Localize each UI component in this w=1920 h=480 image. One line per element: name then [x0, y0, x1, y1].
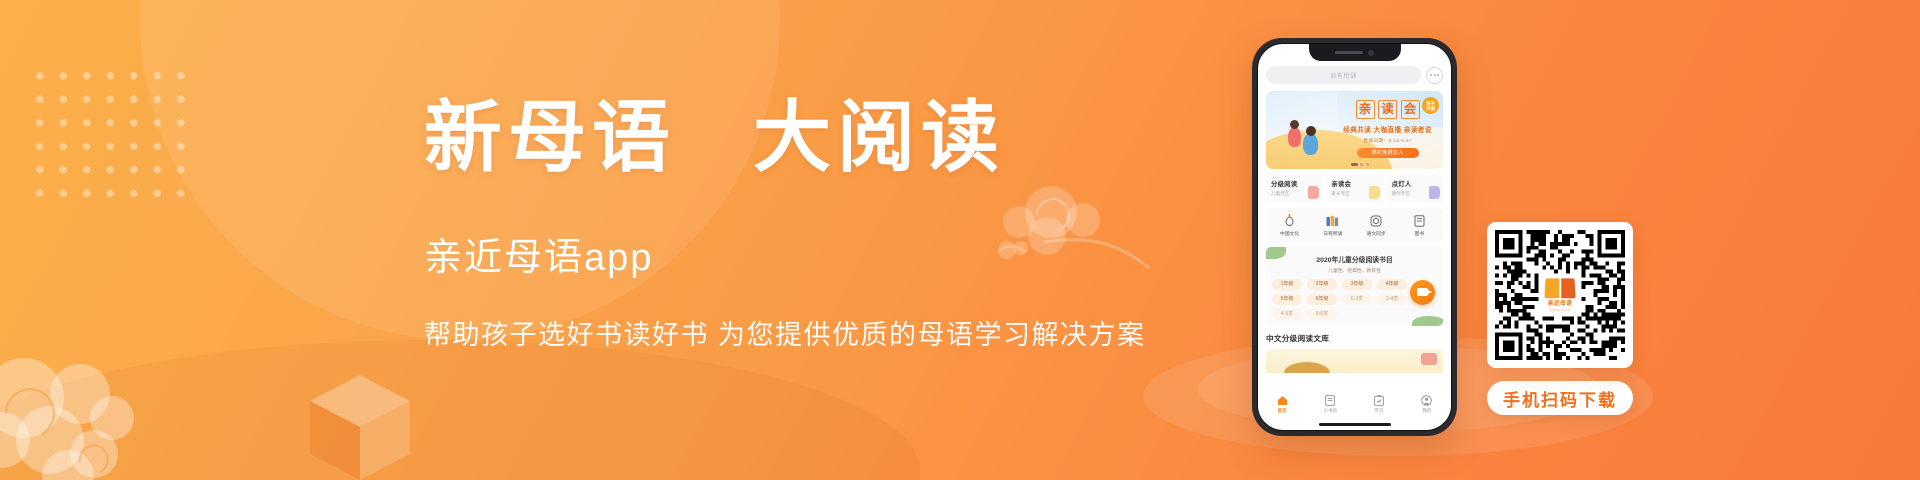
age-pill[interactable]: 0-3岁 [1342, 294, 1372, 305]
grade-pill[interactable]: 6年级 [1307, 294, 1337, 305]
section-title: 中文分级阅读文库 [1266, 333, 1443, 344]
hero-title-char: 会 [1401, 100, 1420, 119]
app-name: 亲近母语app [424, 226, 1264, 281]
book-icon [1429, 186, 1440, 199]
decorative-dot-grid [26, 62, 198, 210]
grade-pill[interactable]: 2年级 [1307, 279, 1337, 290]
grade-pill[interactable]: 3年级 [1342, 279, 1372, 290]
headline-part-1: 新母语 [424, 94, 676, 181]
hero-subtitle: 经典共读 大咖直播 亲读者说 [1338, 124, 1437, 134]
tagline: 帮助孩子选好书读好书 为您提供优质的母语学习解决方案 [424, 313, 1264, 352]
decorative-cube [310, 375, 410, 480]
quick-link-books[interactable]: 图书 [1399, 214, 1441, 237]
library-shelf-card[interactable] [1266, 349, 1443, 373]
age-pill[interactable]: 5-6岁 [1307, 309, 1337, 320]
more-options-icon[interactable] [1426, 67, 1443, 84]
hero-date: 直播日期：9.16-9.27 [1338, 137, 1437, 144]
quick-link-textbook-sync[interactable]: 语文同步 [1355, 214, 1397, 237]
tab-home[interactable]: 首页 [1258, 394, 1306, 414]
hero-pagination[interactable] [1351, 163, 1369, 166]
tab-label: 学习 [1355, 408, 1403, 414]
clipboard-icon [1355, 394, 1403, 407]
hero-title-char: 亲 [1356, 100, 1375, 119]
category-card-teacher[interactable]: 点灯人 教师专区 [1387, 175, 1443, 203]
book-stack-icon [1312, 214, 1354, 228]
video-play-icon[interactable] [1410, 280, 1435, 305]
hero-badge: 亲子 共读 [1422, 97, 1439, 114]
headline-part-2: 大阅读 [753, 94, 1005, 181]
search-row: 日有所诵 [1266, 66, 1443, 84]
tab-label: 我的 [1403, 408, 1451, 414]
home-icon [1258, 394, 1306, 407]
age-pill[interactable]: 4-5岁 [1272, 309, 1302, 320]
decorative-hill [0, 340, 920, 480]
quick-link-label: 语文同步 [1355, 230, 1397, 237]
grade-pill[interactable]: 1年级 [1272, 279, 1302, 290]
tab-label: 首页 [1258, 408, 1306, 414]
note-icon [1306, 394, 1354, 407]
tab-mine[interactable]: 我的 [1403, 394, 1451, 414]
quick-link-label: 图书 [1399, 230, 1441, 237]
book-icon [1308, 186, 1319, 199]
hero-join-button[interactable]: 限时免费加入 [1357, 148, 1419, 158]
quick-link-label: 日有所诵 [1312, 230, 1354, 237]
quick-link-daily-recite[interactable]: 日有所诵 [1312, 214, 1354, 237]
quick-link-label: 中国文化 [1269, 230, 1311, 237]
qr-code-card: 亲近母语 QINJIN MUYU [1487, 222, 1633, 368]
promo-banner: 新母语 大阅读 亲近母语app 帮助孩子选好书读好书 为您提供优质的母语学习解决… [0, 0, 1920, 480]
booklist-card: 2020年儿童分级阅读书目 儿童性、经典性、教育性 1年级 2年级 3年级 4年… [1266, 247, 1443, 326]
grade-pill[interactable]: 5年级 [1272, 294, 1302, 305]
bottom-tab-bar: 首页 小书房 学习 我 [1258, 392, 1451, 422]
hero-banner[interactable]: 亲 读 会 亲子 共读 经典共读 大咖直播 亲读者说 直播日期：9.16-9.2… [1266, 91, 1443, 169]
cloud-decoration-bottom-left [0, 336, 224, 480]
sync-icon [1355, 214, 1397, 228]
page-title: 新母语 大阅读 [424, 96, 1264, 180]
user-icon [1403, 394, 1451, 407]
book-icon [1399, 214, 1441, 228]
book-icon [1369, 186, 1380, 199]
tab-bookroom[interactable]: 小书房 [1306, 394, 1354, 414]
category-card-parent-club[interactable]: 亲读会 家长专区 [1326, 175, 1382, 203]
quick-links: 中国文化 日有所诵 语文同步 [1266, 208, 1443, 242]
search-input[interactable]: 日有所诵 [1266, 66, 1421, 84]
age-pill[interactable]: 3-4岁 [1377, 294, 1407, 305]
phone-notch [1309, 44, 1401, 61]
category-cards: 分级阅读 儿童专区 亲读会 家长专区 点灯人 教师专区 [1266, 175, 1443, 203]
brand-name: 亲近母语 [1548, 299, 1572, 307]
booklist-title: 2020年儿童分级阅读书目 [1272, 254, 1437, 264]
open-book-icon [1544, 278, 1575, 298]
booklist-subtitle: 儿童性、经典性、教育性 [1272, 267, 1437, 274]
app-screen: 日有所诵 亲 读 会 亲子 共读 [1258, 44, 1451, 430]
qr-block: 亲近母语 QINJIN MUYU 手机扫码下载 [1487, 222, 1633, 415]
download-button[interactable]: 手机扫码下载 [1487, 381, 1633, 415]
category-card-graded-reading[interactable]: 分级阅读 儿童专区 [1266, 175, 1322, 203]
lantern-icon [1269, 214, 1311, 228]
grade-filters: 1年级 2年级 3年级 4年级 5年级 6年级 0-3岁 3-4岁 4-5岁 5… [1272, 279, 1437, 320]
grade-pill[interactable]: 4年级 [1377, 279, 1407, 290]
hero-title-char: 读 [1378, 100, 1397, 119]
brand-name-pinyin: QINJIN MUYU [1550, 308, 1570, 312]
tab-label: 小书房 [1306, 408, 1354, 414]
phone-mockup: 日有所诵 亲 读 会 亲子 共读 [1252, 38, 1457, 436]
brand-logo: 亲近母语 QINJIN MUYU [1540, 275, 1580, 315]
home-indicator [1319, 423, 1391, 426]
quick-link-chinese-culture[interactable]: 中国文化 [1269, 214, 1311, 237]
tab-study[interactable]: 学习 [1355, 394, 1403, 414]
copy-block: 新母语 大阅读 亲近母语app 帮助孩子选好书读好书 为您提供优质的母语学习解决… [424, 96, 1264, 352]
